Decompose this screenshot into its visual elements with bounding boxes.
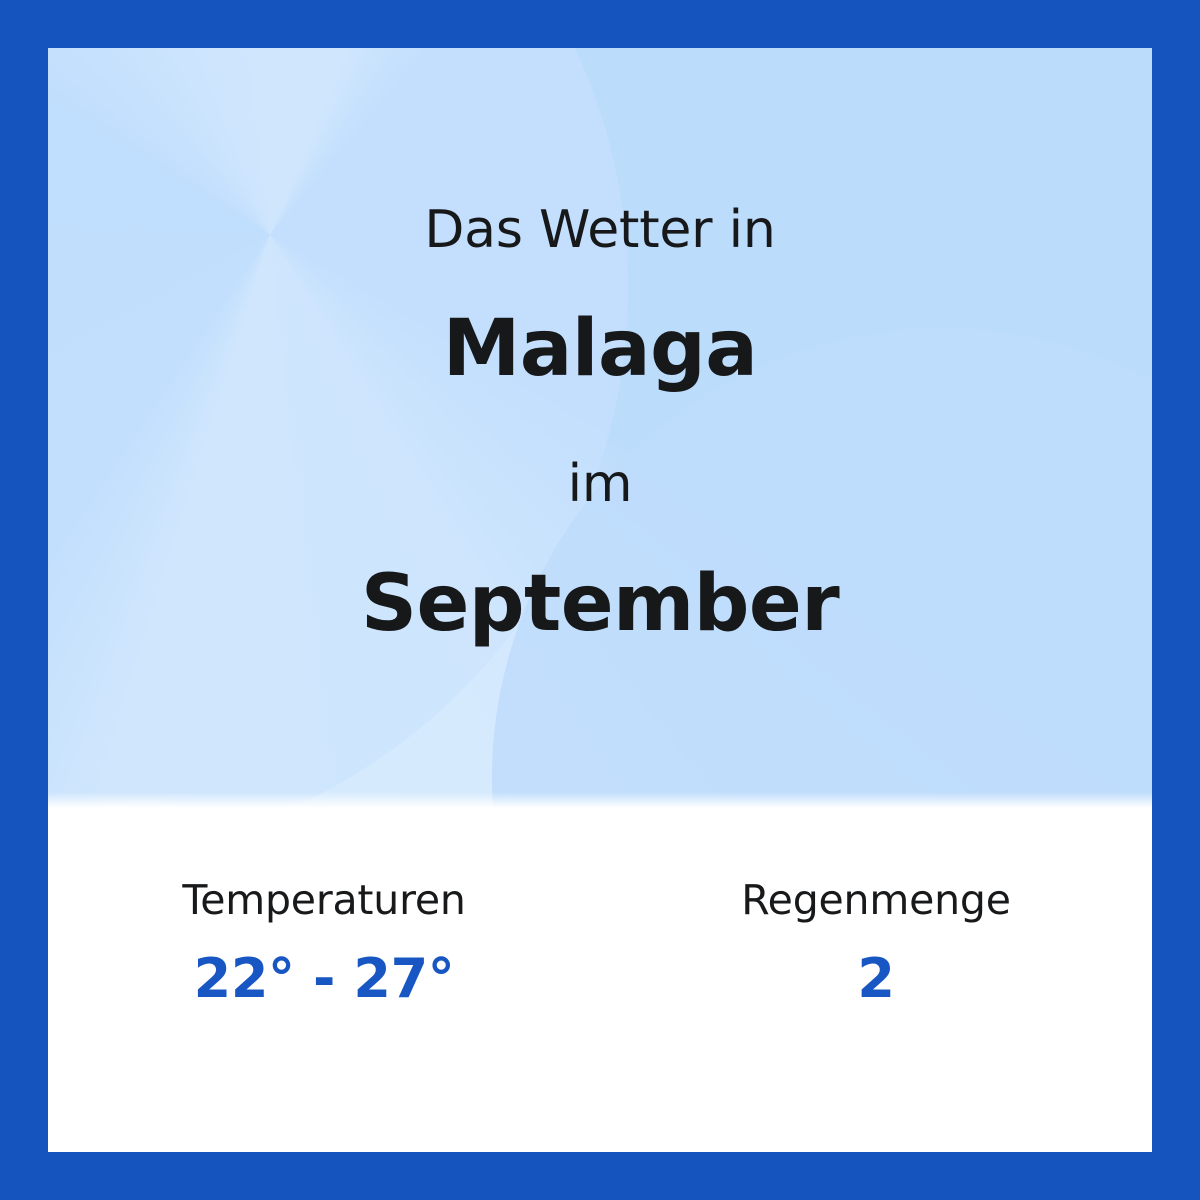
stat-temperatures-label: Temperaturen xyxy=(48,878,600,923)
hero-text-stack: Das Wetter in Malaga im September xyxy=(48,48,1152,808)
poster-frame: Das Wetter in Malaga im September Temper… xyxy=(0,0,1200,1200)
weather-hero: Das Wetter in Malaga im September xyxy=(48,48,1152,808)
stat-temperatures: Temperaturen 22° - 27° xyxy=(48,878,600,1008)
stat-rainfall-value: 2 xyxy=(600,949,1152,1008)
stat-rainfall-label: Regenmenge xyxy=(600,878,1152,923)
hero-intro-text: Das Wetter in xyxy=(424,203,775,258)
hero-location-title: Malaga xyxy=(443,309,758,391)
stat-rainfall: Regenmenge 2 xyxy=(600,878,1152,1008)
hero-connector-text: im xyxy=(568,457,633,512)
weather-stats-panel: Temperaturen 22° - 27° Regenmenge 2 xyxy=(48,808,1152,1152)
stat-temperatures-value: 22° - 27° xyxy=(48,949,600,1008)
weather-card: Das Wetter in Malaga im September Temper… xyxy=(48,48,1152,1152)
hero-month-title: September xyxy=(361,564,839,646)
